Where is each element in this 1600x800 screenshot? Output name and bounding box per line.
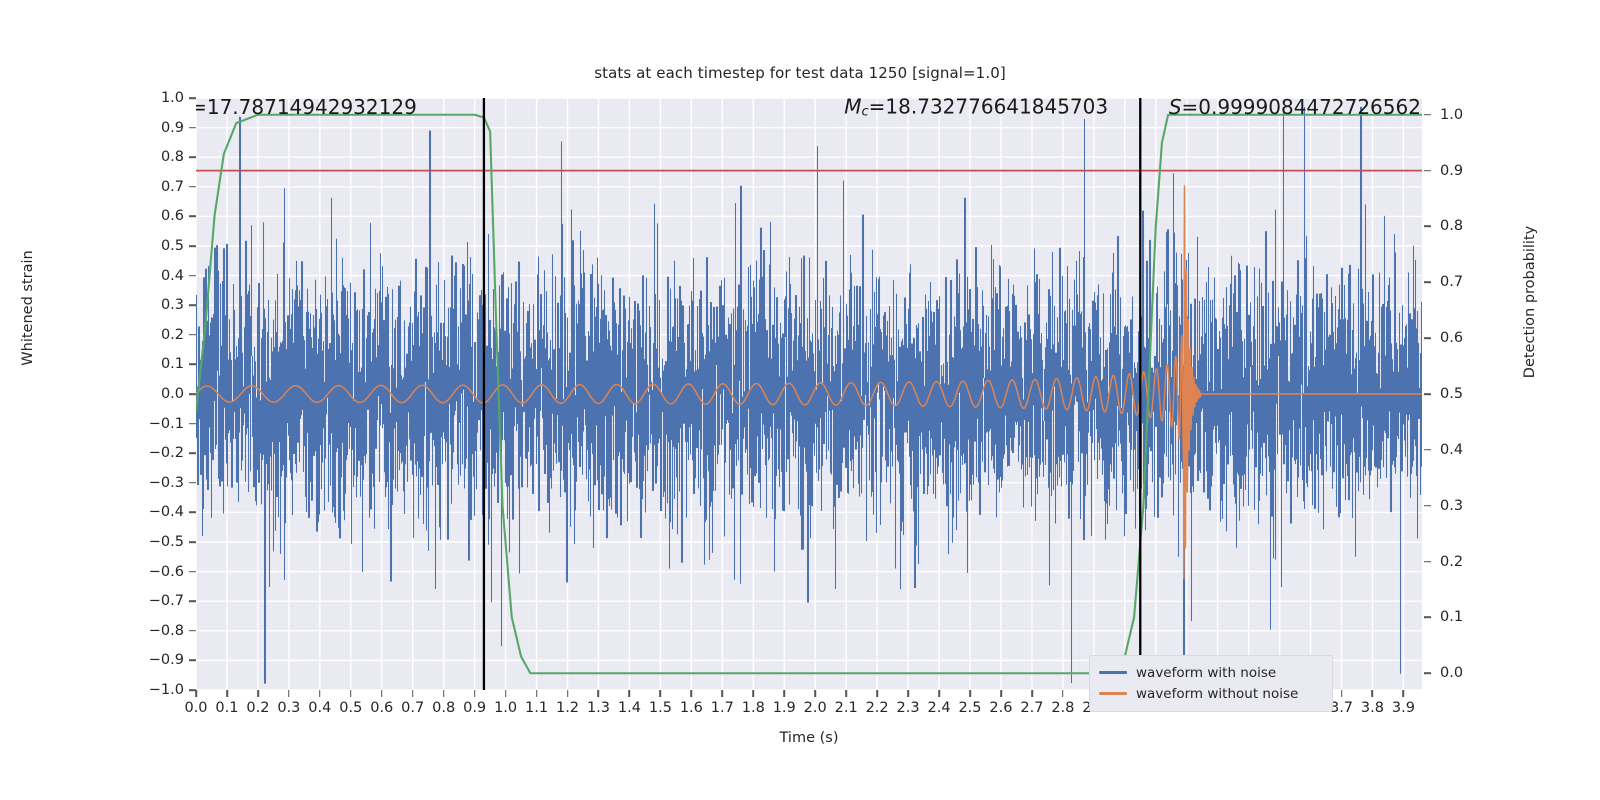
x-tick-mark [722, 690, 724, 697]
y-tick-label: −0.5 [149, 534, 184, 550]
y-tick-label: 0.6 [161, 208, 184, 224]
x-tick-mark [1341, 690, 1343, 697]
y-tick-mark [1424, 672, 1431, 674]
x-tick-mark [350, 690, 352, 697]
y-tick-label: −0.9 [149, 652, 184, 668]
x-tick-label: 2.0 [804, 700, 827, 716]
y-tick-label: 0.2 [161, 327, 184, 343]
x-tick-label: 1.8 [742, 700, 765, 716]
x-tick-label: 1.1 [525, 700, 548, 716]
x-tick-mark [412, 690, 414, 697]
x-tick-label: 1.0 [494, 700, 517, 716]
x-tick-label: 3.9 [1392, 700, 1415, 716]
x-tick-mark [845, 690, 847, 697]
figure: stats at each timestep for test data 125… [0, 0, 1600, 800]
x-tick-mark [629, 690, 631, 697]
x-tick-label: 2.6 [989, 700, 1012, 716]
y-tick-label: −0.4 [149, 504, 184, 520]
y-tick-mark [189, 364, 196, 366]
y-axis-right-title: Detection probability [1522, 202, 1538, 402]
series-waveform-with-noise [197, 107, 1422, 684]
y-axis-left-labels: 1.00.90.80.70.60.50.40.30.20.10.0−0.1−0.… [126, 98, 184, 690]
y-tick-label: 0.4 [161, 268, 184, 284]
legend-swatch-noise [1099, 671, 1127, 673]
x-tick-label: 1.5 [649, 700, 672, 716]
y-tick-mark [189, 275, 196, 277]
x-tick-label: 0.8 [432, 700, 455, 716]
y-tick-label: 0.5 [161, 238, 184, 254]
x-tick-label: 2.7 [1020, 700, 1043, 716]
x-tick-label: 0.9 [463, 700, 486, 716]
y-axis-left-ticks [186, 98, 196, 690]
annotation-score: S=0.99990844727265625 [1169, 98, 1422, 119]
x-tick-mark [1372, 690, 1374, 697]
y-tick-mark [189, 334, 196, 336]
annotation-snr: SNR=17.78714942932129 [196, 98, 417, 119]
y-tick-mark [1424, 561, 1431, 563]
x-tick-mark [907, 690, 909, 697]
x-axis-title: Time (s) [196, 730, 1422, 746]
x-tick-label: 1.9 [773, 700, 796, 716]
x-tick-label: 2.2 [866, 700, 889, 716]
y-tick-label: 0.7 [1440, 274, 1463, 290]
x-tick-label: 2.8 [1051, 700, 1074, 716]
y-tick-mark [1424, 170, 1431, 172]
y-tick-label: 0.8 [1440, 218, 1463, 234]
x-tick-label: 1.3 [587, 700, 610, 716]
legend-swatch-signal [1099, 692, 1127, 694]
x-tick-label: 0.1 [215, 700, 238, 716]
x-tick-mark [1031, 690, 1033, 697]
y-axis-right-ticks [1424, 98, 1434, 690]
x-tick-mark [443, 690, 445, 697]
x-tick-mark [1062, 690, 1064, 697]
x-tick-mark [660, 690, 662, 697]
y-axis-right-labels: 1.00.90.80.70.60.50.40.30.20.10.0 [1440, 98, 1500, 690]
x-tick-mark [969, 690, 971, 697]
y-tick-label: −0.2 [149, 445, 184, 461]
y-tick-label: 0.4 [1440, 442, 1463, 458]
x-tick-mark [319, 690, 321, 697]
y-tick-mark [189, 541, 196, 543]
x-tick-label: 1.4 [618, 700, 641, 716]
x-tick-mark [598, 690, 600, 697]
x-tick-label: 3.8 [1361, 700, 1384, 716]
y-tick-label: 0.1 [161, 356, 184, 372]
x-tick-mark [195, 690, 197, 697]
plot-area[interactable]: SNR=17.78714942932129 Mc=18.732776641845… [196, 98, 1422, 690]
x-tick-mark [567, 690, 569, 697]
x-tick-label: 1.7 [711, 700, 734, 716]
x-tick-label: 2.1 [835, 700, 858, 716]
x-tick-mark [257, 690, 259, 697]
y-tick-mark [189, 423, 196, 425]
y-tick-mark [189, 216, 196, 218]
x-tick-mark [536, 690, 538, 697]
x-tick-label: 2.3 [897, 700, 920, 716]
y-tick-mark [189, 393, 196, 395]
x-tick-label: 0.7 [401, 700, 424, 716]
legend-item[interactable]: waveform with noise [1099, 662, 1323, 683]
y-tick-label: 1.0 [1440, 107, 1463, 123]
y-tick-label: −0.3 [149, 475, 184, 491]
x-tick-label: 0.2 [246, 700, 269, 716]
x-tick-mark [381, 690, 383, 697]
y-tick-mark [189, 304, 196, 306]
x-tick-mark [691, 690, 693, 697]
y-tick-mark [189, 97, 196, 99]
y-tick-label: −0.8 [149, 623, 184, 639]
x-tick-label: 0.0 [184, 700, 207, 716]
y-tick-mark [189, 512, 196, 514]
chart-title: stats at each timestep for test data 125… [0, 64, 1600, 82]
y-tick-mark [1424, 505, 1431, 507]
x-tick-label: 1.6 [680, 700, 703, 716]
y-tick-mark [1424, 282, 1431, 284]
y-tick-mark [1424, 617, 1431, 619]
legend: waveform with noise waveform without noi… [1089, 655, 1333, 712]
y-tick-label: −1.0 [149, 682, 184, 698]
y-tick-label: −0.7 [149, 593, 184, 609]
y-tick-mark [189, 127, 196, 129]
y-tick-label: 0.5 [1440, 386, 1463, 402]
y-tick-mark [1424, 337, 1431, 339]
x-tick-mark [752, 690, 754, 697]
x-tick-label: 0.4 [308, 700, 331, 716]
y-tick-label: 0.9 [1440, 163, 1463, 179]
x-tick-mark [474, 690, 476, 697]
y-tick-mark [1424, 226, 1431, 228]
y-tick-mark [1424, 114, 1431, 116]
y-tick-label: 0.6 [1440, 330, 1463, 346]
y-tick-label: 0.2 [1440, 554, 1463, 570]
x-tick-mark [938, 690, 940, 697]
y-tick-mark [189, 571, 196, 573]
y-tick-mark [189, 630, 196, 632]
y-tick-label: 0.8 [161, 149, 184, 165]
y-tick-mark [189, 245, 196, 247]
x-tick-mark [783, 690, 785, 697]
x-tick-label: 3.7 [1330, 700, 1353, 716]
y-tick-mark [189, 660, 196, 662]
y-tick-mark [1424, 449, 1431, 451]
y-tick-label: 0.3 [161, 297, 184, 313]
y-tick-label: 1.0 [161, 90, 184, 106]
y-tick-label: 0.1 [1440, 609, 1463, 625]
legend-item[interactable]: waveform without noise [1099, 683, 1323, 704]
x-tick-mark [288, 690, 290, 697]
y-tick-label: 0.0 [161, 386, 184, 402]
legend-label: waveform with noise [1136, 665, 1276, 681]
y-tick-mark [1424, 393, 1431, 395]
y-tick-mark [189, 186, 196, 188]
x-tick-label: 0.5 [339, 700, 362, 716]
y-tick-mark [189, 482, 196, 484]
y-tick-mark [189, 600, 196, 602]
y-tick-label: −0.6 [149, 564, 184, 580]
y-tick-label: 0.7 [161, 179, 184, 195]
y-tick-mark [189, 452, 196, 454]
x-tick-mark [226, 690, 228, 697]
y-tick-label: 0.9 [161, 120, 184, 136]
plot-canvas [196, 98, 1422, 690]
x-tick-label: 2.4 [927, 700, 950, 716]
x-tick-mark [1403, 690, 1405, 697]
annotation-chirp-mass: Mc=18.732776641845703 [844, 98, 1108, 120]
y-tick-label: 0.3 [1440, 498, 1463, 514]
x-tick-mark [814, 690, 816, 697]
y-tick-label: −0.1 [149, 416, 184, 432]
x-tick-label: 0.3 [277, 700, 300, 716]
legend-label: waveform without noise [1136, 686, 1298, 702]
x-tick-mark [505, 690, 507, 697]
x-tick-mark [1000, 690, 1002, 697]
y-axis-left-title: Whitened strain [20, 208, 36, 408]
x-tick-label: 0.6 [370, 700, 393, 716]
x-tick-label: 2.5 [958, 700, 981, 716]
x-tick-mark [876, 690, 878, 697]
y-tick-label: 0.0 [1440, 665, 1463, 681]
x-tick-label: 1.2 [556, 700, 579, 716]
y-tick-mark [189, 156, 196, 158]
